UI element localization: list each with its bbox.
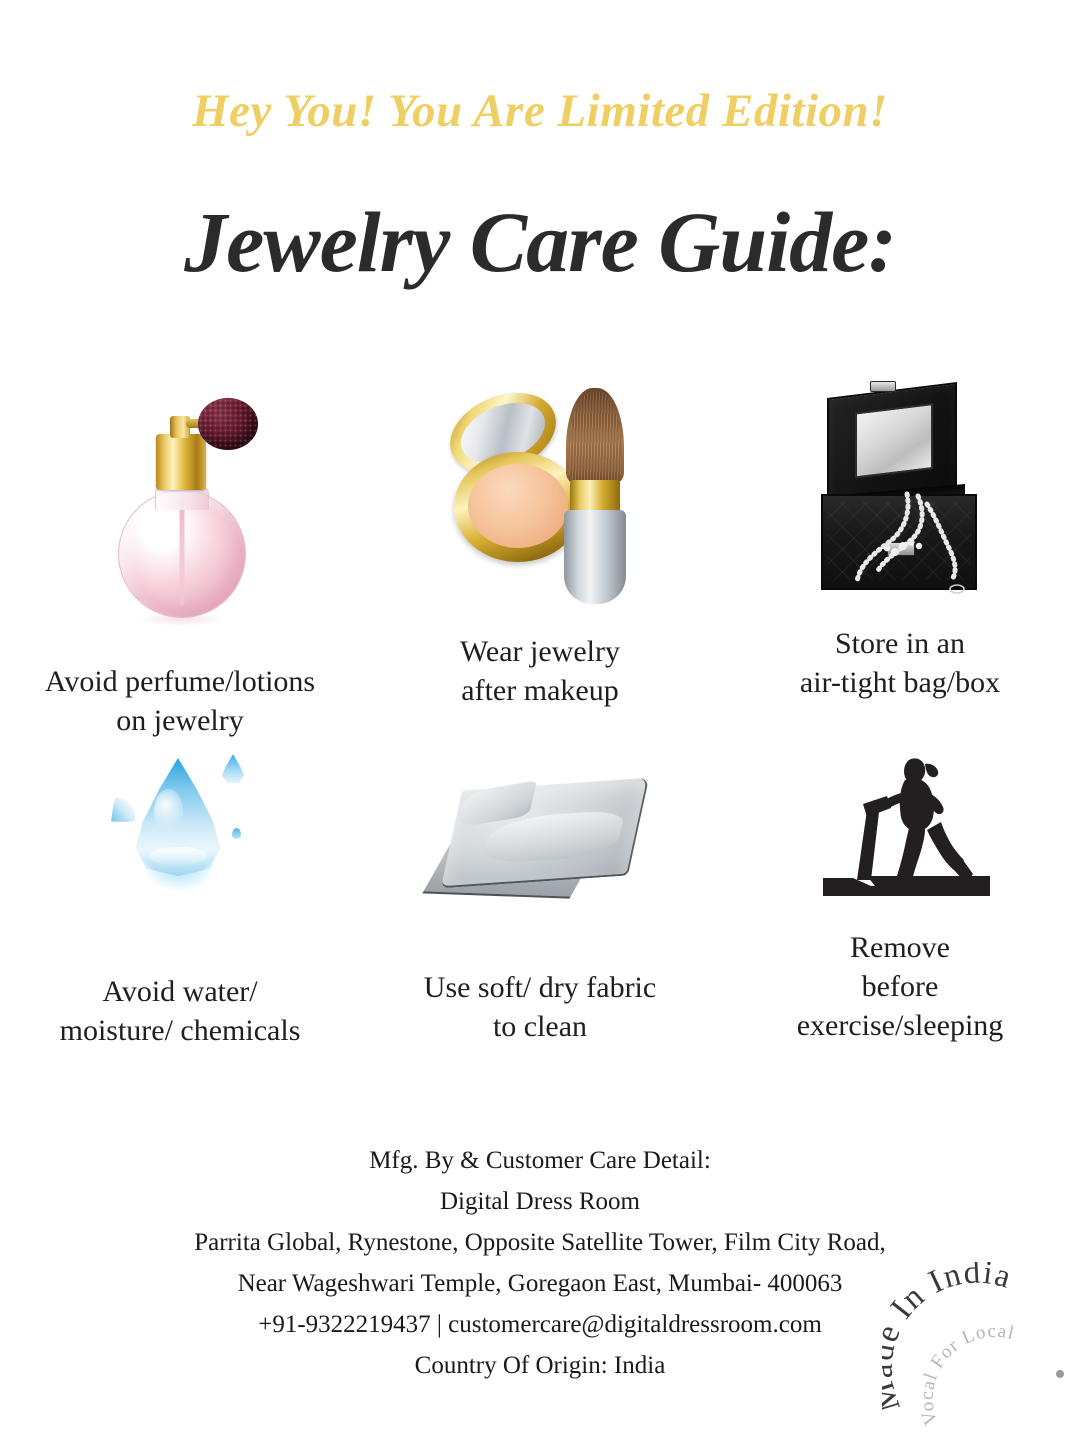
tip-card-cloth: Use soft/ dry fabric to clean — [360, 740, 720, 1070]
tips-grid: Avoid perfume/lotions on jewelry — [0, 380, 1080, 1070]
tip-art — [360, 380, 720, 612]
svg-text:Vocal For Local: Vocal For Local — [917, 1321, 1017, 1428]
tips-row-1: Avoid perfume/lotions on jewelry — [0, 380, 1080, 740]
tip-card-water: Avoid water/ moisture/ chemicals — [0, 740, 360, 1070]
tip-caption: Avoid perfume/lotions on jewelry — [45, 662, 315, 740]
makeup-compact-brush-icon — [440, 386, 640, 612]
tip-art — [0, 740, 360, 930]
water-droplet-icon — [90, 744, 270, 930]
tip-caption: Store in an air-tight bag/box — [800, 624, 1000, 702]
treadmill-runner-icon — [805, 748, 995, 908]
tip-caption: Use soft/ dry fabric to clean — [424, 968, 656, 1046]
tip-art — [720, 740, 1080, 908]
stamp-inner-text: Vocal For Local — [917, 1321, 1017, 1428]
footer-line-company: Digital Dress Room — [0, 1181, 1080, 1222]
tip-art — [0, 380, 360, 626]
tip-card-exercise: Remove before exercise/sleeping — [720, 740, 1080, 1070]
made-in-india-stamp: Made In India Vocal For Local — [882, 1262, 1080, 1440]
tip-card-makeup: Wear jewelry after makeup — [360, 380, 720, 740]
tip-card-jewelry-box: Store in an air-tight bag/box — [720, 380, 1080, 740]
tip-art — [720, 380, 1080, 608]
tip-caption: Avoid water/ moisture/ chemicals — [60, 972, 301, 1050]
page-title: Jewelry Care Guide: — [0, 192, 1080, 292]
cleaning-cloth-icon — [435, 778, 645, 910]
tip-caption: Remove before exercise/sleeping — [797, 928, 1004, 1045]
tips-row-2: Avoid water/ moisture/ chemicals Use sof… — [0, 740, 1080, 1070]
tip-card-perfume: Avoid perfume/lotions on jewelry — [0, 380, 360, 740]
jewelry-box-icon — [815, 386, 985, 608]
perfume-bottle-icon — [100, 380, 260, 626]
tip-art — [360, 740, 720, 910]
footer-line-address-1: Parrita Global, Rynestone, Opposite Sate… — [0, 1222, 1080, 1263]
tip-caption: Wear jewelry after makeup — [460, 632, 620, 710]
footer-line-mfg: Mfg. By & Customer Care Detail: — [0, 1140, 1080, 1181]
jewelry-care-guide-page: Hey You! You Are Limited Edition! Jewelr… — [0, 0, 1080, 1440]
tagline: Hey You! You Are Limited Edition! — [0, 84, 1080, 138]
